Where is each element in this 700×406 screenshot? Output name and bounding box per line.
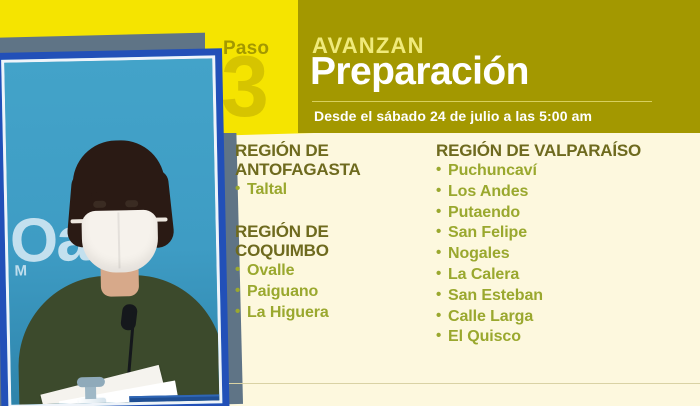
region-heading-valparaiso: REGIÓN DE VALPARAÍSO (436, 141, 698, 160)
list-item: La Calera (436, 265, 698, 286)
regions-content: REGIÓN DE ANTOFAGASTA Taltal REGIÓN DE C… (228, 133, 700, 406)
list-item: Putaendo (436, 203, 698, 224)
chevron-yellow-icon (143, 404, 157, 405)
speaker-eyebrow-right (124, 192, 140, 195)
video-feed: Oa M (4, 58, 219, 404)
sanitizer-pump-icon (77, 377, 105, 388)
commune-list-coquimbo: Ovalle Paiguano La Higuera (235, 261, 420, 323)
effective-from-text: Desde el sábado 24 de julio a las 5:00 a… (314, 108, 592, 124)
region-heading-coquimbo: REGIÓN DE COQUIMBO (235, 222, 420, 260)
backdrop-watermark-sub: M (14, 262, 27, 279)
broadcast-graphic: Oa M (0, 0, 700, 406)
list-item: Los Andes (436, 182, 698, 203)
list-item: Paiguano (235, 282, 420, 303)
list-item: Calle Larga (436, 307, 698, 328)
list-item: El Quisco (436, 327, 698, 348)
video-inner-border: Oa M (1, 55, 222, 406)
phase-title: Preparación (310, 52, 529, 91)
podium-sign: PASO a PASO Nos cuidamos (129, 394, 219, 405)
speaker-eye-right (125, 200, 138, 207)
header-divider (312, 101, 652, 102)
regions-column-left: REGIÓN DE ANTOFAGASTA Taltal REGIÓN DE C… (235, 141, 420, 323)
paso-a-paso-logo-icon (143, 403, 174, 404)
regions-column-right: REGIÓN DE VALPARAÍSO Puchuncaví Los Ande… (436, 141, 698, 348)
commune-list-antofagasta: Taltal (235, 180, 420, 201)
list-item: La Higuera (235, 303, 420, 324)
list-item: Nogales (436, 244, 698, 265)
list-item: Taltal (235, 180, 420, 201)
region-heading-antofagasta: REGIÓN DE ANTOFAGASTA (235, 141, 420, 179)
step-number: 3 (221, 44, 267, 130)
speaker-eye-left (93, 201, 106, 208)
bottom-divider (228, 383, 700, 384)
chevron-blue-icon (160, 403, 174, 404)
speaker-eyebrow-left (91, 193, 107, 196)
list-item: Ovalle (235, 261, 420, 282)
video-frame: Oa M (0, 48, 230, 406)
list-item: Puchuncaví (436, 161, 698, 182)
list-item: San Esteban (436, 286, 698, 307)
commune-list-valparaiso: Puchuncaví Los Andes Putaendo San Felipe… (436, 161, 698, 348)
step-indicator: Paso 3 (205, 0, 298, 133)
list-item: San Felipe (436, 223, 698, 244)
header-band: AVANZAN Preparación Desde el sábado 24 d… (298, 0, 700, 133)
